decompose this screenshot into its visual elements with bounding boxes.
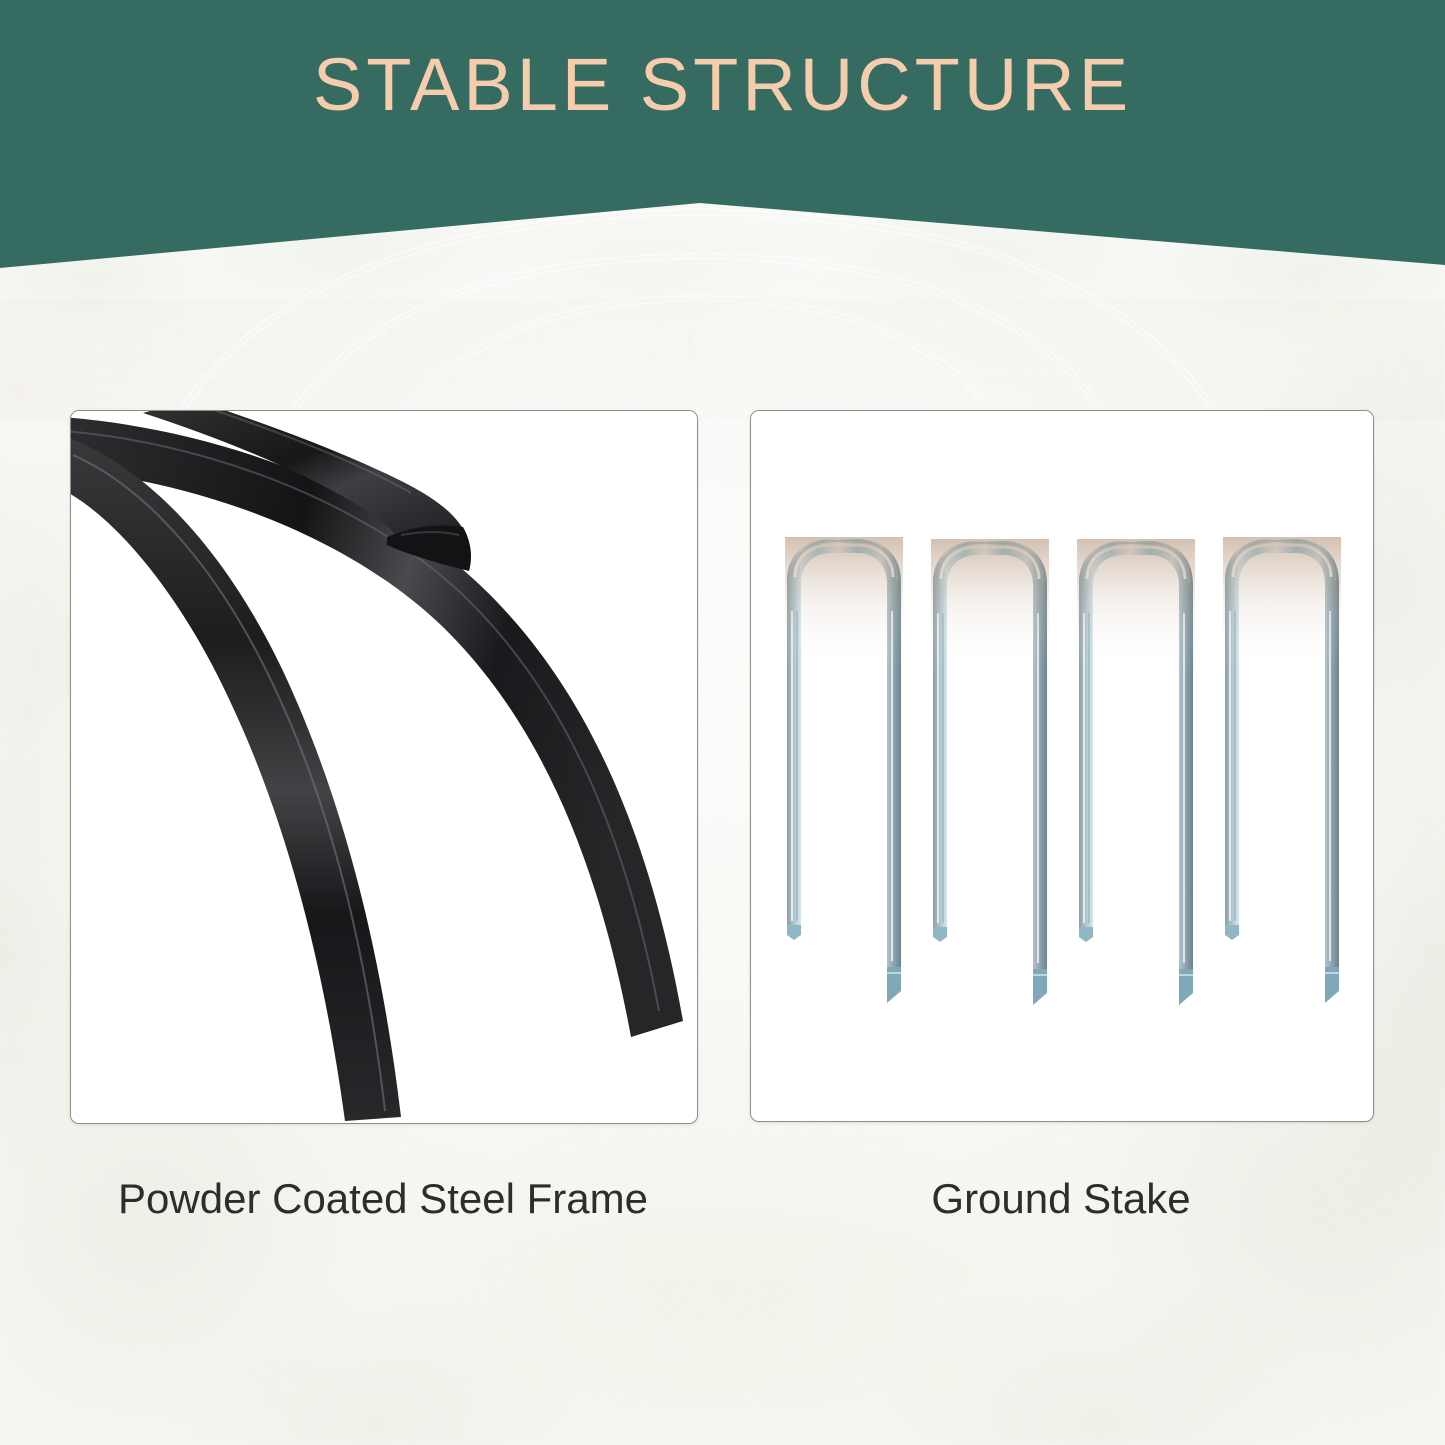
steel-frame-illustration — [71, 411, 697, 1123]
feature-card-steel-frame[interactable] — [70, 410, 698, 1124]
page-title: STABLE STRUCTURE — [0, 48, 1445, 122]
caption-ground-stake: Ground Stake — [750, 1176, 1372, 1222]
ground-stake-illustration — [751, 411, 1373, 1121]
poster-root: STABLE STRUCTURE — [0, 0, 1445, 1445]
feature-card-ground-stake[interactable] — [750, 410, 1374, 1122]
caption-steel-frame: Powder Coated Steel Frame — [70, 1176, 696, 1222]
